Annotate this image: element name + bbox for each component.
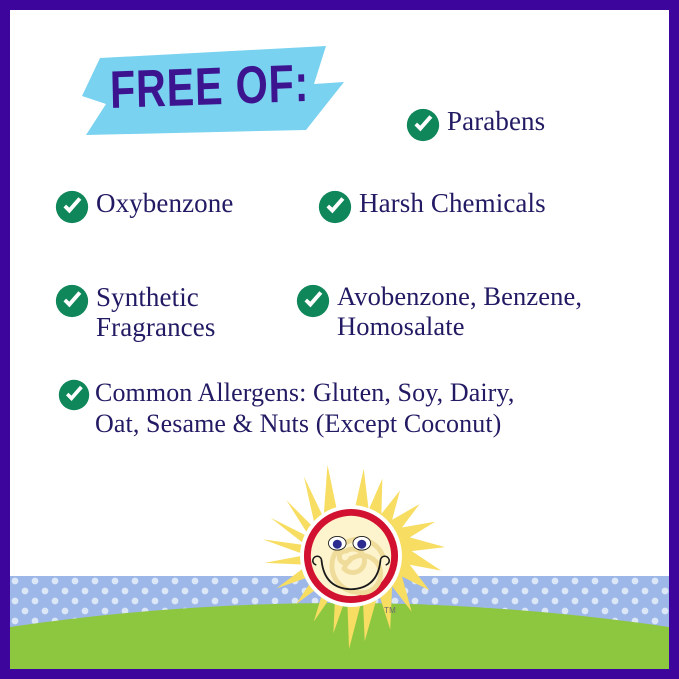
check-circle-icon (406, 108, 440, 142)
list-item-label: Avobenzone, Benzene, Homosalate (337, 282, 582, 341)
list-item-label: Parabens (447, 106, 545, 136)
list-item-label: Harsh Chemicals (359, 188, 546, 218)
list-item-harsh-chemicals: Harsh Chemicals (318, 188, 546, 222)
sun-right-pupil (357, 540, 366, 549)
banner-title: FREE OF: (76, 33, 308, 141)
free-of-banner: FREE OF: (68, 40, 363, 140)
free-of-infographic-card: FREE OF: Parabens Oxybenzone Harsh Chemi… (0, 0, 679, 679)
trademark-mark: TM (384, 606, 396, 615)
sun-graphic (253, 457, 449, 653)
check-circle-icon (58, 379, 90, 411)
list-item-label: Oxybenzone (96, 188, 233, 218)
list-item-parabens: Parabens (406, 106, 545, 140)
list-item-avobenzone: Avobenzone, Benzene, Homosalate (296, 282, 582, 341)
list-item-oxybenzone: Oxybenzone (55, 188, 233, 222)
card-inner: FREE OF: Parabens Oxybenzone Harsh Chemi… (10, 10, 669, 669)
smiling-sun-logo (253, 457, 449, 653)
list-item-synthetic-fragrances: Synthetic Fragrances (55, 282, 215, 342)
check-circle-icon (55, 190, 89, 224)
list-item-label: Synthetic Fragrances (96, 282, 215, 342)
check-circle-icon (296, 284, 330, 318)
check-circle-icon (318, 190, 352, 224)
check-circle-icon (55, 284, 89, 318)
list-item-label: Common Allergens: Gluten, Soy, Dairy, Oa… (95, 377, 514, 439)
list-item-common-allergens: Common Allergens: Gluten, Soy, Dairy, Oa… (58, 377, 514, 439)
sun-left-pupil (333, 540, 342, 549)
